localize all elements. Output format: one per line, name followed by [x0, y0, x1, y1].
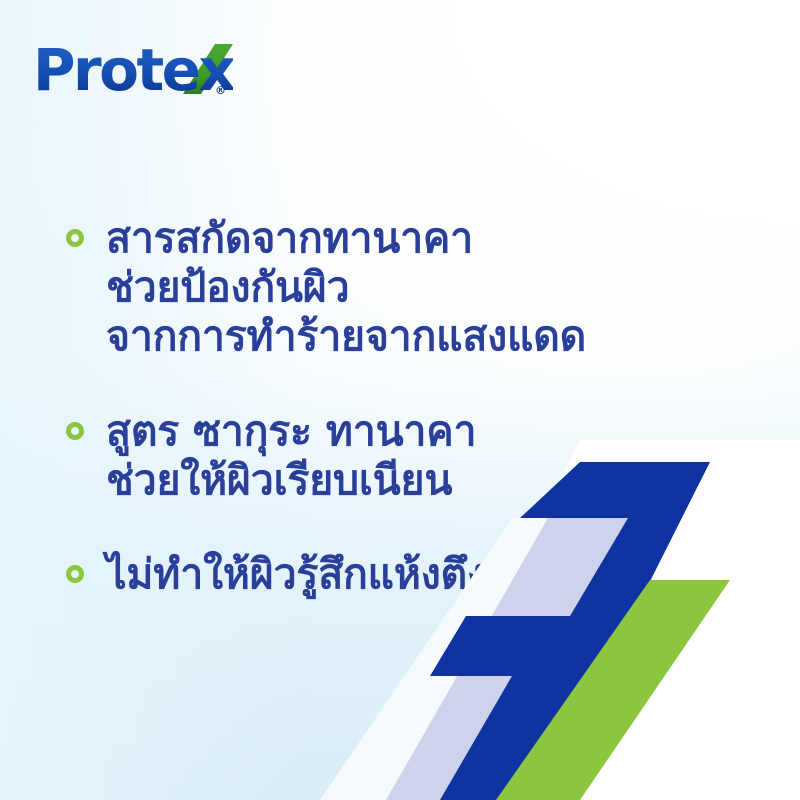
protex-logo: Protex ®	[33, 34, 233, 108]
spacer	[66, 361, 706, 407]
spacer	[66, 505, 706, 550]
protex-wordmark-icon: Protex ®	[33, 34, 233, 108]
benefits-list: สารสกัดจากทานาคา ช่วยป้องกันผิว จากการทำ…	[66, 214, 706, 599]
product-benefits-banner: Protex ® สารสกัดจากทานาคา ช่วยป้องกันผิว…	[0, 0, 800, 800]
benefit-text: สารสกัดจากทานาคา ช่วยป้องกันผิว จากการทำ…	[106, 214, 706, 361]
green-ring-bullet-icon	[66, 565, 84, 583]
list-item: สูตร ซากุระ ทานาคา ช่วยให้ผิวเรียบเนียน	[66, 407, 706, 505]
registered-trademark-icon: ®	[215, 84, 226, 97]
logo-wordmark-text: Protex	[33, 36, 233, 104]
green-ring-bullet-icon	[66, 229, 84, 247]
benefit-text: ไม่ทำให้ผิวรู้สึกแห้งตึง	[106, 550, 706, 599]
list-item: ไม่ทำให้ผิวรู้สึกแห้งตึง	[66, 550, 706, 599]
green-ring-bullet-icon	[66, 422, 84, 440]
benefit-text: สูตร ซากุระ ทานาคา ช่วยให้ผิวเรียบเนียน	[106, 407, 706, 505]
list-item: สารสกัดจากทานาคา ช่วยป้องกันผิว จากการทำ…	[66, 214, 706, 361]
